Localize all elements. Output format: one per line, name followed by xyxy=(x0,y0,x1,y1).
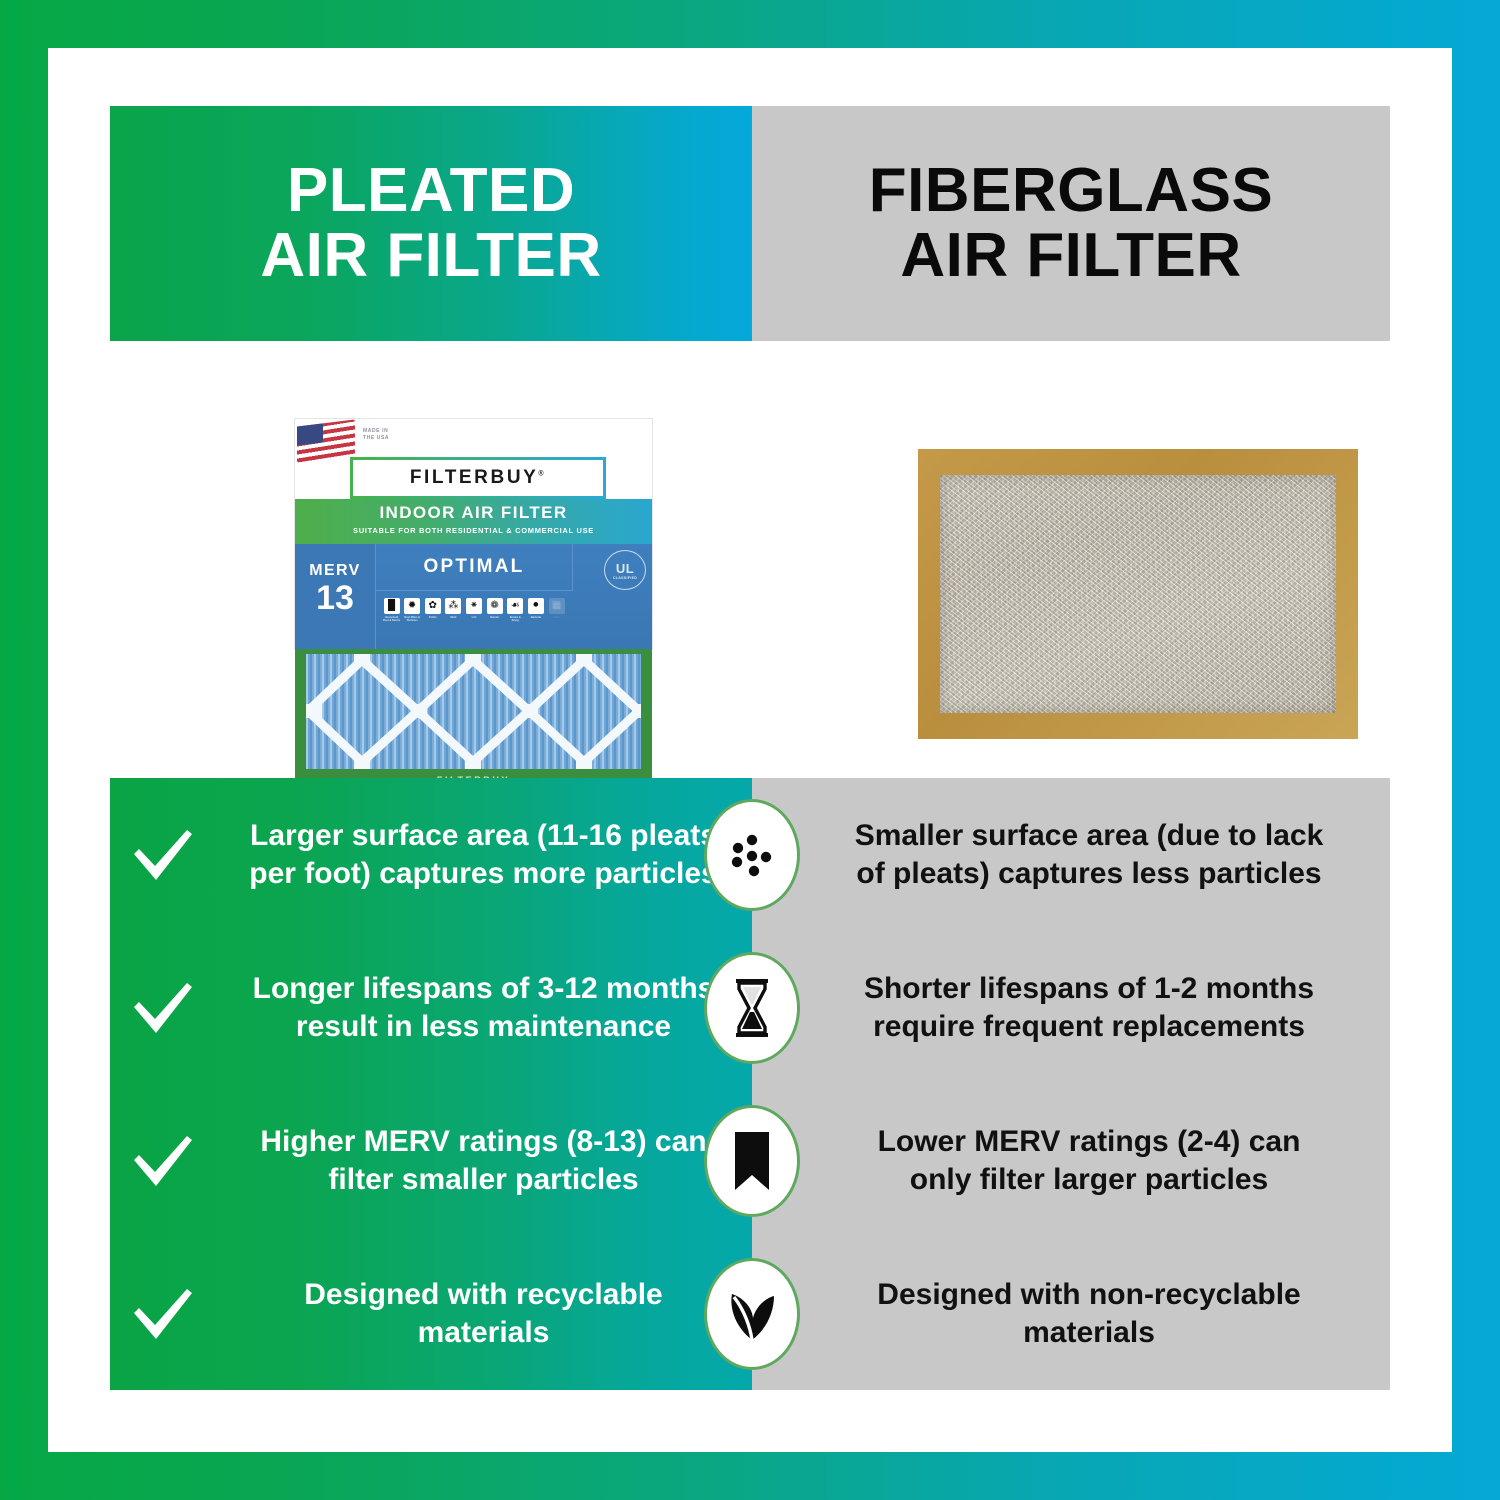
feature-icon-lint: ⁕Lint xyxy=(465,598,484,619)
row-left-text: Higher MERV ratings (8-13) can filter sm… xyxy=(215,1123,752,1199)
bookmark-icon xyxy=(704,1105,800,1217)
brand-box: FILTERBUY® xyxy=(350,457,606,499)
row-right-text: Lower MERV ratings (2-4) can only filter… xyxy=(752,1123,1390,1199)
row-left-text: Longer lifespans of 3-12 months result i… xyxy=(215,970,752,1046)
row-left-text: Designed with recyclable materials xyxy=(215,1276,752,1352)
comparison-row-recyclable: Designed with recyclable materials Desig… xyxy=(110,1237,1390,1390)
header-fiberglass-line1: FIBERGLASS xyxy=(869,159,1274,223)
grade-label: OPTIMAL xyxy=(376,544,573,591)
bookmark-icon-glyph xyxy=(731,1130,773,1192)
label-spec-area: MERV 13 OPTIMAL UL CLASSIFIED █Household… xyxy=(295,544,652,649)
feature-icon-pollen: ✿Pollen xyxy=(423,598,442,619)
feature-icon-dander: ❁Dander xyxy=(485,598,504,619)
particles-icon xyxy=(704,799,800,911)
banner-title: INDOOR AIR FILTER xyxy=(295,503,652,523)
banner-subtitle: SUITABLE FOR BOTH RESIDENTIAL & COMMERCI… xyxy=(295,526,652,535)
ul-mark: UL xyxy=(616,561,634,576)
feature-icon-virus: ▦Virus xyxy=(547,598,566,619)
row-right-text: Smaller surface area (due to lack of ple… xyxy=(752,817,1390,893)
particles-icon-glyph xyxy=(724,827,780,883)
header-pleated: PLEATED AIR FILTER xyxy=(110,106,752,341)
pleated-filter-media: FILTERBUY xyxy=(295,649,652,791)
check-mark-slot xyxy=(110,931,215,1084)
check-mark-slot xyxy=(110,778,215,931)
product-image-row: MADE INTHE USA FILTERBUY® INDOOR AIR FIL… xyxy=(110,341,1390,778)
header-pleated-line1: PLEATED xyxy=(260,159,601,223)
header-row: PLEATED AIR FILTER FIBERGLASS AIR FILTER xyxy=(110,106,1390,341)
row-right-text: Shorter lifespans of 1-2 months require … xyxy=(752,970,1390,1046)
made-in-usa-text: MADE INTHE USA xyxy=(363,428,389,443)
label-banner: INDOOR AIR FILTER SUITABLE FOR BOTH RESI… xyxy=(295,499,652,544)
header-pleated-line2: AIR FILTER xyxy=(260,224,601,288)
feature-icon-mold: ⁂Mold xyxy=(444,598,463,619)
check-icon xyxy=(132,981,194,1035)
row-left-text: Larger surface area (11-16 pleats per fo… xyxy=(215,817,752,893)
check-icon xyxy=(132,1134,194,1188)
merv-value: 13 xyxy=(295,582,375,614)
fiberglass-media-texture xyxy=(940,475,1336,713)
feature-icon-strip: █Household Dust & Debris ✹Dust Mites & P… xyxy=(376,591,572,649)
infographic-card: PLEATED AIR FILTER FIBERGLASS AIR FILTER… xyxy=(48,48,1452,1452)
row-right-text: Designed with non-recyclable materials xyxy=(752,1276,1390,1352)
hourglass-icon xyxy=(704,952,800,1064)
feature-icon-smoke-smog: ☙Smoke & Smog xyxy=(506,598,525,623)
comparison-row-merv-rating: Higher MERV ratings (8-13) can filter sm… xyxy=(110,1084,1390,1237)
feature-icon-household-dust: █Household Dust & Debris xyxy=(382,598,401,623)
comparison-row-surface-area: Larger surface area (11-16 pleats per fo… xyxy=(110,778,1390,931)
feature-icon-dust-mites: ✹Dust Mites & Particles xyxy=(403,598,422,623)
fiberglass-filter-photo xyxy=(918,449,1358,739)
filter-wire-mesh xyxy=(306,654,641,769)
check-mark-slot xyxy=(110,1084,215,1237)
pleated-filter-photo: MADE INTHE USA FILTERBUY® INDOOR AIR FIL… xyxy=(295,419,652,791)
hourglass-icon-glyph xyxy=(728,977,776,1039)
pleated-filter-label: MADE INTHE USA FILTERBUY® INDOOR AIR FIL… xyxy=(295,419,652,649)
check-icon xyxy=(132,1287,194,1341)
usa-flag-icon xyxy=(297,419,355,462)
header-fiberglass-line2: AIR FILTER xyxy=(869,224,1274,288)
merv-block: MERV 13 xyxy=(295,544,376,649)
header-fiberglass: FIBERGLASS AIR FILTER xyxy=(752,106,1390,341)
check-icon xyxy=(132,828,194,882)
feature-icon-bacteria: ⚫Bacteria xyxy=(526,598,545,619)
label-top-bar: MADE INTHE USA FILTERBUY® xyxy=(295,419,652,489)
check-mark-slot xyxy=(110,1237,215,1390)
brand-name: FILTERBUY® xyxy=(410,467,546,489)
merv-label: MERV xyxy=(295,562,375,580)
leaf-icon-glyph xyxy=(722,1284,782,1344)
comparison-row-lifespan: Longer lifespans of 3-12 months result i… xyxy=(110,931,1390,1084)
comparison-rows: Larger surface area (11-16 pleats per fo… xyxy=(110,778,1390,1390)
ul-classified-badge: UL CLASSIFIED xyxy=(604,550,646,590)
ul-sub: CLASSIFIED xyxy=(613,576,637,580)
leaf-icon xyxy=(704,1258,800,1370)
outer-gradient-frame: PLEATED AIR FILTER FIBERGLASS AIR FILTER… xyxy=(0,0,1500,1500)
